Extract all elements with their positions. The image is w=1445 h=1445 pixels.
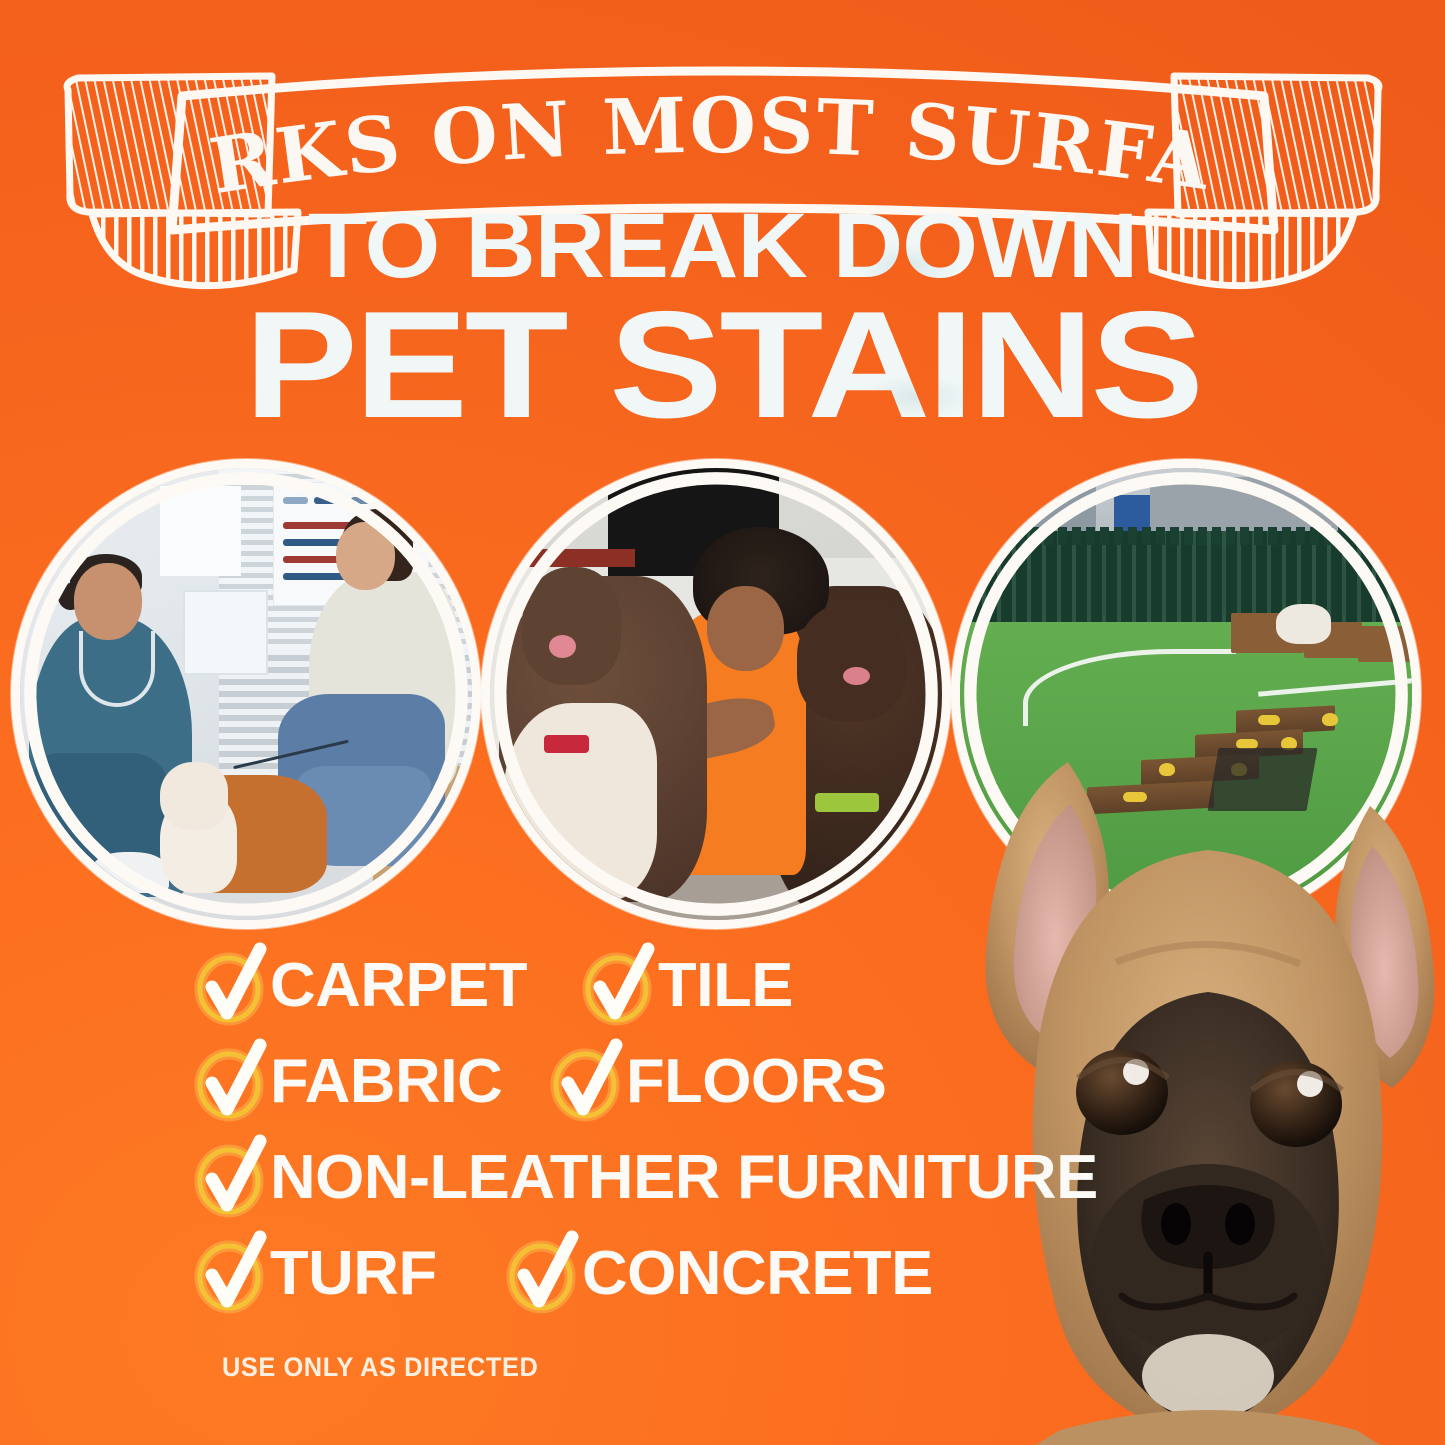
checklist-label: CONCRETE [582, 1243, 933, 1305]
check-icon [584, 955, 646, 1017]
check-icon [552, 1051, 614, 1113]
checklist-label: CARPET [270, 955, 527, 1017]
headline-line-2: PET STAINS [0, 296, 1445, 436]
checklist-item-floors[interactable]: FLOORS [552, 1051, 881, 1113]
checklist-item-non-leather-furniture[interactable]: NON-LEATHER FURNITURE [196, 1147, 1082, 1209]
child-with-dogs-scene [490, 468, 942, 920]
vet-clinic-photo [20, 468, 472, 920]
check-icon [196, 1243, 258, 1305]
checklist-row: FABRIC FLOORS [196, 1051, 1076, 1147]
checklist-item-concrete[interactable]: CONCRETE [508, 1243, 926, 1305]
surfaces-checklist: CARPET TILE [196, 955, 1076, 1339]
child-with-dogs-photo [490, 468, 942, 920]
checklist-label: FLOORS [626, 1051, 886, 1113]
checklist-item-turf[interactable]: TURF [196, 1243, 433, 1305]
checklist-label: TILE [658, 955, 793, 1017]
disclaimer-text: USE ONLY AS DIRECTED [222, 1352, 538, 1383]
checklist-item-carpet[interactable]: CARPET [196, 955, 522, 1017]
checklist-row: CARPET TILE [196, 955, 1076, 1051]
checklist-label: NON-LEATHER FURNITURE [270, 1147, 1098, 1209]
check-icon [196, 1051, 258, 1113]
check-icon [196, 1147, 258, 1209]
ribbon-text-path: WORKS ON MOST SURFACES [17, 0, 1217, 211]
check-icon [508, 1243, 570, 1305]
checklist-item-tile[interactable]: TILE [584, 955, 790, 1017]
checklist-row: TURF CONCRETE [196, 1243, 1076, 1339]
checklist-label: TURF [270, 1243, 437, 1305]
vet-clinic-scene [20, 468, 472, 920]
checklist-label: FABRIC [270, 1051, 502, 1113]
check-icon [196, 955, 258, 1017]
pet-stain-cleaner-advertisement: WORKS ON MOST SURFACES TO BREAK DOWN PET… [0, 0, 1445, 1445]
checklist-item-fabric[interactable]: FABRIC [196, 1051, 498, 1113]
ribbon-text: WORKS ON MOST SURFACES [17, 0, 1217, 211]
headline-line-1: TO BREAK DOWN [0, 204, 1445, 289]
checklist-row: NON-LEATHER FURNITURE [196, 1147, 1076, 1243]
